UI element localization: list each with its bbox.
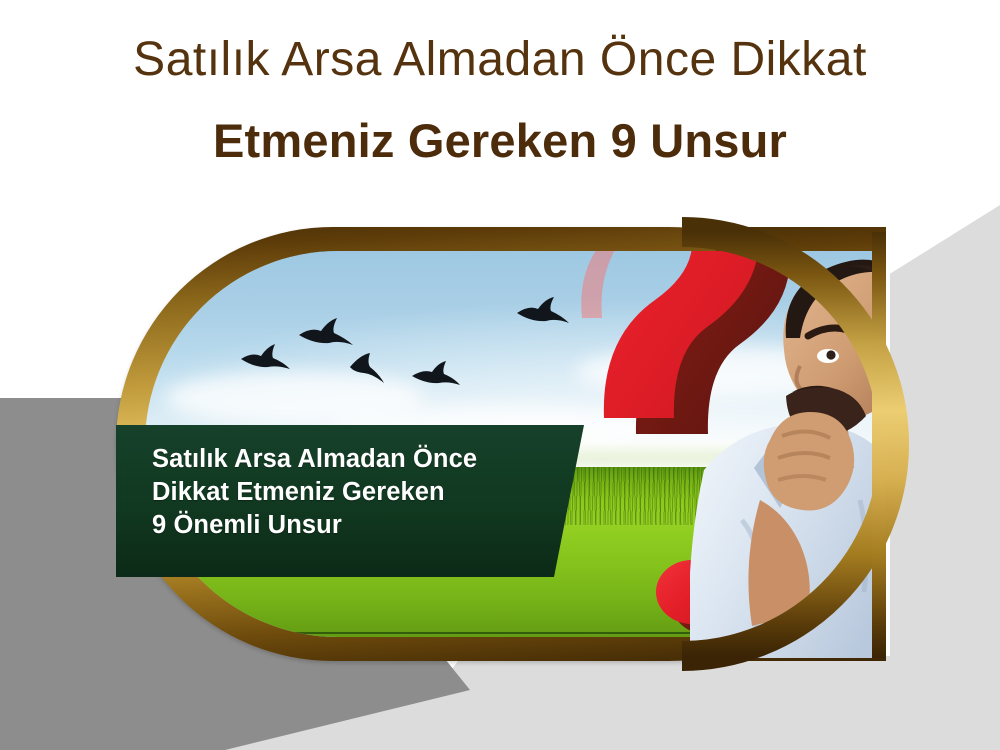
framed-image-card: Satılık Arsa Almadan Önce Dikkat Etmeniz…: [116, 227, 886, 661]
banner-line-2: Dikkat Etmeniz Gereken: [152, 476, 477, 509]
cloud-shape: [575, 347, 875, 397]
poster-canvas: Satılık Arsa Almadan Önce Dikkat Etmeniz…: [0, 0, 1000, 750]
banner-line-3: 9 Önemli Unsur: [152, 509, 477, 542]
banner-line-1: Satılık Arsa Almadan Önce: [152, 443, 477, 476]
green-banner-text: Satılık Arsa Almadan Önce Dikkat Etmeniz…: [152, 443, 477, 542]
grass-bottom-line: [145, 632, 886, 634]
